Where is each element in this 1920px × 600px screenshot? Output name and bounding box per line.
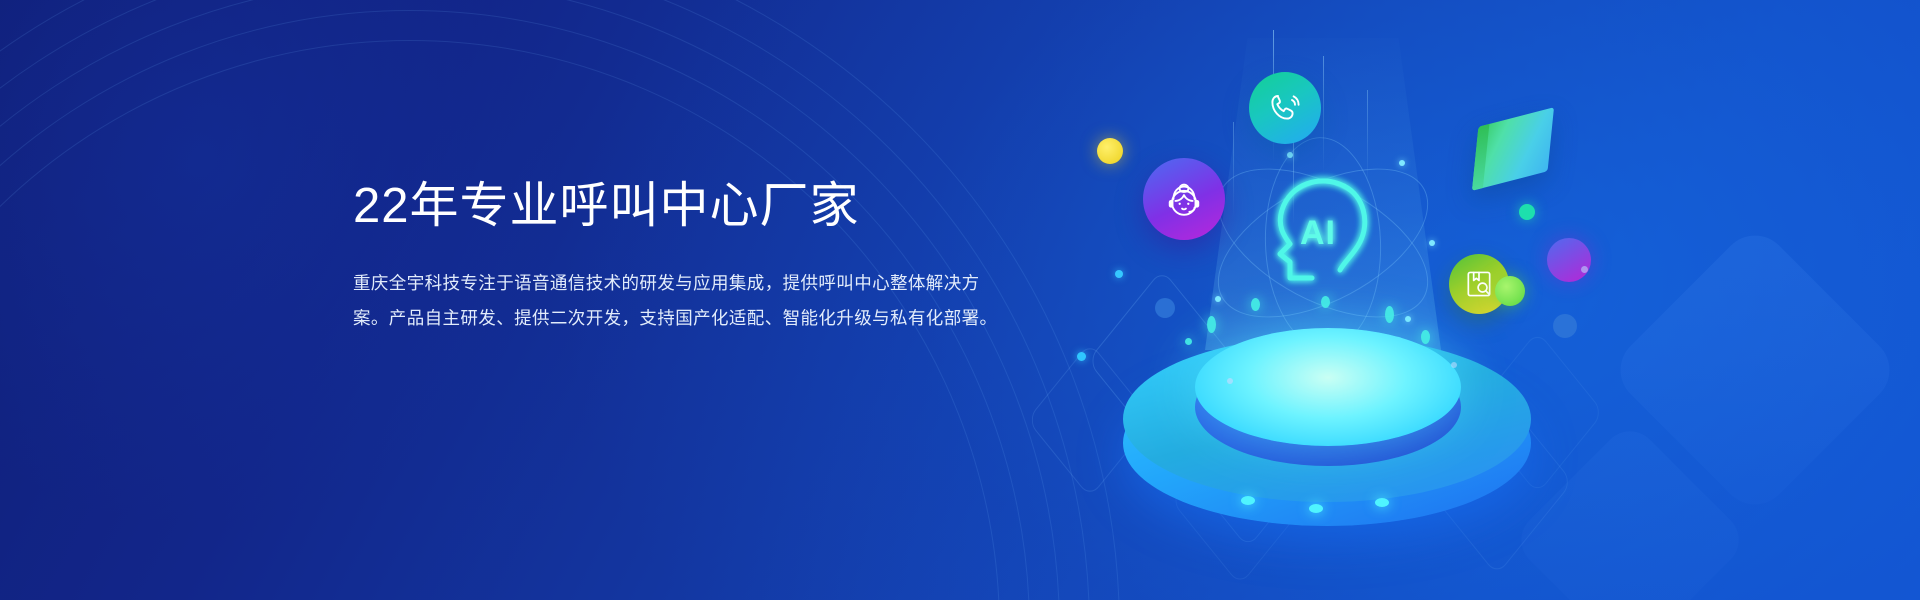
- light-spark: [1185, 338, 1192, 345]
- light-spark: [1385, 306, 1394, 323]
- podium-surface: [1195, 328, 1461, 446]
- page-title: 22年专业呼叫中心厂家: [353, 178, 1053, 236]
- decorative-dot-purple: [1547, 238, 1591, 282]
- hero-illustration: AI: [1055, 30, 1695, 570]
- decorative-dot-cyan: [1519, 204, 1535, 220]
- green-card-icon: [1472, 107, 1554, 191]
- light-spark: [1207, 316, 1216, 333]
- decorative-dot-yellow: [1097, 138, 1123, 164]
- decorative-dot-small: [1115, 270, 1123, 278]
- decorative-dot-steel: [1155, 298, 1175, 318]
- light-spark: [1421, 330, 1430, 344]
- decorative-dot-small: [1077, 352, 1086, 361]
- orbit-node: [1287, 152, 1293, 158]
- orbit-node: [1429, 240, 1435, 246]
- orbit-node: [1399, 160, 1405, 166]
- headset-agent-icon[interactable]: [1143, 158, 1225, 240]
- podium-rim-light: [1241, 496, 1255, 505]
- decorative-dot-green: [1495, 276, 1525, 306]
- hero-copy-block: 22年专业呼叫中心厂家 重庆全宇科技专注于语音通信技术的研发与应用集成，提供呼叫…: [353, 178, 1053, 336]
- decorative-dot-steel: [1553, 314, 1577, 338]
- podium-rim-light: [1375, 498, 1389, 507]
- decorative-dot-small: [1451, 362, 1457, 368]
- hero-description: 重庆全宇科技专注于语音通信技术的研发与应用集成，提供呼叫中心整体解决方案。产品自…: [353, 266, 1013, 336]
- hero-banner: 22年专业呼叫中心厂家 重庆全宇科技专注于语音通信技术的研发与应用集成，提供呼叫…: [0, 0, 1920, 600]
- light-spark: [1321, 296, 1330, 308]
- ai-head-icon: AI: [1260, 170, 1378, 298]
- orbit-node: [1215, 296, 1221, 302]
- phone-call-icon[interactable]: [1249, 72, 1321, 144]
- light-spark: [1251, 298, 1260, 311]
- podium-rim-light: [1309, 504, 1323, 513]
- decorative-dot-small: [1581, 266, 1588, 273]
- ai-label: AI: [1300, 214, 1336, 252]
- decorative-dot-small: [1227, 378, 1233, 384]
